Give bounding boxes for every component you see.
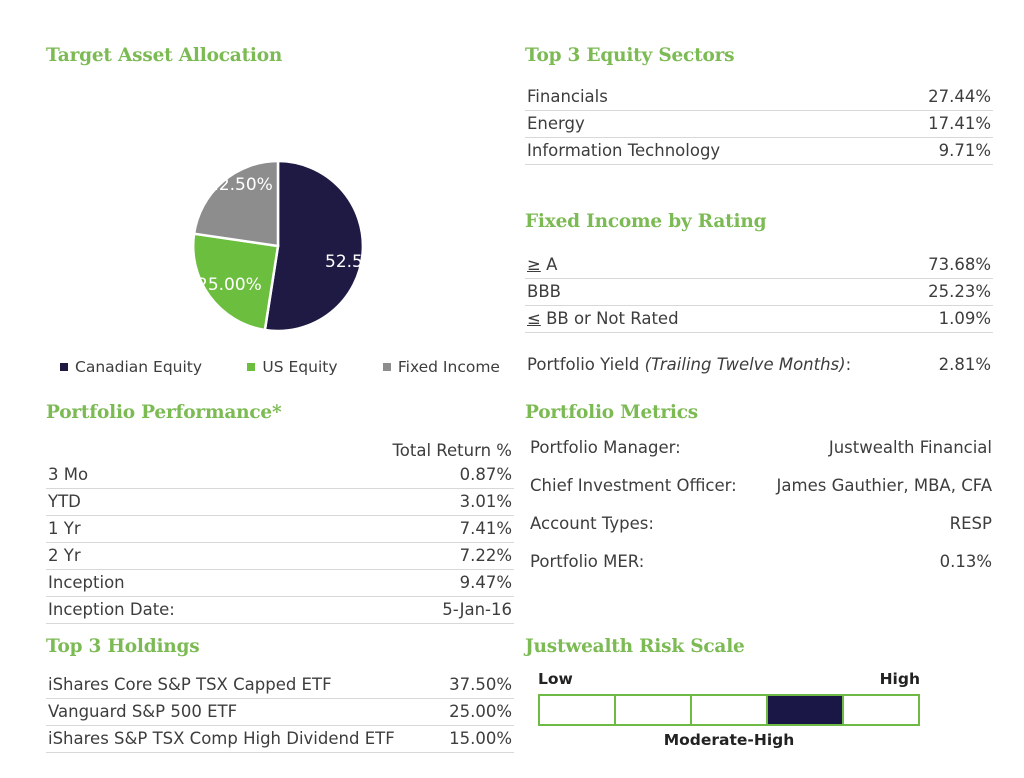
risk-scale-segment-5[interactable] [842, 694, 920, 726]
legend-item-fixed-income: Fixed Income [383, 358, 500, 376]
top-holdings-table: iShares Core S&P TSX Capped ETF 37.50% V… [46, 672, 514, 753]
rating-label-1: BBB [525, 279, 852, 306]
risk-scale-segment-2[interactable] [614, 694, 692, 726]
section-title-fixed-income: Fixed Income by Rating [525, 211, 766, 232]
metrics-label-2: Account Types: [530, 514, 654, 533]
sector-label-2: Information Technology [525, 138, 874, 165]
table-row: iShares S&P TSX Comp High Dividend ETF 1… [46, 726, 514, 753]
rating-symbol-0: ≥ [527, 255, 541, 274]
risk-scale-segment-1[interactable] [538, 694, 616, 726]
risk-scale-segment-4-active[interactable] [766, 694, 844, 726]
table-row-inception-date: Inception Date: 5-Jan-16 [46, 597, 514, 624]
risk-scale-caption: Moderate-High [538, 731, 920, 749]
pie-label-fixed-income: 22.50% [208, 175, 273, 195]
sector-value-1: 17.41% [874, 111, 993, 138]
metrics-row: Portfolio MER: 0.13% [530, 552, 992, 571]
metrics-row: Account Types: RESP [530, 514, 992, 533]
pie-legend: Canadian Equity US Equity Fixed Income [60, 358, 500, 376]
table-row: YTD 3.01% [46, 489, 514, 516]
sector-label-1: Energy [525, 111, 874, 138]
pie-svg [150, 112, 410, 384]
legend-item-canadian-equity: Canadian Equity [60, 358, 202, 376]
holding-label-0: iShares Core S&P TSX Capped ETF [46, 672, 439, 699]
rating-value-1: 25.23% [852, 279, 993, 306]
metrics-value-2: RESP [950, 514, 992, 533]
metrics-row: Chief Investment Officer: James Gauthier… [530, 476, 992, 495]
metrics-label-3: Portfolio MER: [530, 552, 644, 571]
risk-scale-low-label: Low [538, 670, 573, 688]
risk-scale-widget: Low High Moderate-High [538, 670, 920, 749]
rating-label-2: ≤ BB or Not Rated [525, 306, 852, 333]
rating-text-0: A [546, 255, 557, 274]
table-row: 2 Yr 7.22% [46, 543, 514, 570]
table-row: Financials 27.44% [525, 84, 993, 111]
table-row: ≤ BB or Not Rated 1.09% [525, 306, 993, 333]
section-title-portfolio-performance: Portfolio Performance* [46, 402, 281, 423]
table-row: 1 Yr 7.41% [46, 516, 514, 543]
rating-label-0: ≥ A [525, 252, 852, 279]
section-title-portfolio-metrics: Portfolio Metrics [525, 402, 698, 423]
pie-slice-fixed-income [194, 161, 278, 246]
portfolio-performance-table: Total Return % 3 Mo 0.87% YTD 3.01% 1 Yr… [46, 438, 514, 624]
rating-value-2: 1.09% [852, 306, 993, 333]
table-row: iShares Core S&P TSX Capped ETF 37.50% [46, 672, 514, 699]
performance-value-0: 0.87% [287, 462, 514, 489]
legend-item-us-equity: US Equity [247, 358, 337, 376]
fixed-income-rating-table: ≥ A 73.68% BBB 25.23% ≤ BB or Not Rated … [525, 252, 993, 333]
metrics-label-0: Portfolio Manager: [530, 438, 681, 457]
performance-label-1: YTD [46, 489, 287, 516]
metrics-row: Portfolio Manager: Justwealth Financial [530, 438, 992, 457]
holding-label-1: Vanguard S&P 500 ETF [46, 699, 439, 726]
pie-label-canadian-equity: 52.50% [325, 252, 390, 272]
performance-label-4: Inception [46, 570, 287, 597]
performance-value-3: 7.22% [287, 543, 514, 570]
asset-allocation-pie-chart: 52.50% 25.00% 22.50% [150, 112, 410, 384]
rating-value-0: 73.68% [852, 252, 993, 279]
rating-symbol-2: ≤ [527, 309, 541, 328]
legend-label-canadian-equity: Canadian Equity [75, 358, 202, 376]
risk-scale-bar [538, 694, 920, 726]
sector-label-0: Financials [525, 84, 874, 111]
rating-text-2: BB or Not Rated [546, 309, 678, 328]
performance-label-0: 3 Mo [46, 462, 287, 489]
table-row: Vanguard S&P 500 ETF 25.00% [46, 699, 514, 726]
metrics-value-0: Justwealth Financial [829, 438, 992, 457]
holding-label-2: iShares S&P TSX Comp High Dividend ETF [46, 726, 439, 753]
pie-slice-canadian-equity [265, 161, 363, 331]
legend-label-fixed-income: Fixed Income [398, 358, 500, 376]
table-row: Energy 17.41% [525, 111, 993, 138]
inception-date-value: 5-Jan-16 [287, 597, 514, 624]
table-row: ≥ A 73.68% [525, 252, 993, 279]
yield-label-text: Portfolio Yield [527, 355, 639, 374]
section-title-asset-allocation: Target Asset Allocation [46, 45, 282, 66]
table-header-row: Total Return % [46, 438, 514, 462]
portfolio-yield-row: Portfolio Yield (Trailing Twelve Months)… [525, 352, 993, 378]
table-row: Inception 9.47% [46, 570, 514, 597]
legend-swatch-icon-us-equity [247, 363, 255, 371]
equity-sectors-table: Financials 27.44% Energy 17.41% Informat… [525, 84, 993, 165]
portfolio-metrics-list: Portfolio Manager: Justwealth Financial … [530, 438, 992, 590]
performance-column-header: Total Return % [287, 438, 514, 462]
portfolio-yield-label: Portfolio Yield (Trailing Twelve Months)… [525, 352, 924, 378]
performance-label-3: 2 Yr [46, 543, 287, 570]
performance-blank-header [46, 438, 287, 462]
legend-swatch-icon-fixed-income [383, 363, 391, 371]
sector-value-0: 27.44% [874, 84, 993, 111]
performance-value-4: 9.47% [287, 570, 514, 597]
sector-value-2: 9.71% [874, 138, 993, 165]
section-title-risk-scale: Justwealth Risk Scale [525, 636, 745, 657]
risk-scale-endpoints: Low High [538, 670, 920, 688]
legend-label-us-equity: US Equity [262, 358, 337, 376]
factsheet-page: Target Asset Allocation 52.50% 25.00% 22… [0, 0, 1024, 778]
holding-value-2: 15.00% [439, 726, 514, 753]
table-row: Information Technology 9.71% [525, 138, 993, 165]
performance-value-2: 7.41% [287, 516, 514, 543]
pie-label-us-equity: 25.00% [197, 275, 262, 295]
metrics-value-3: 0.13% [940, 552, 992, 571]
table-row: 3 Mo 0.87% [46, 462, 514, 489]
section-title-equity-sectors: Top 3 Equity Sectors [525, 45, 734, 66]
metrics-label-1: Chief Investment Officer: [530, 476, 737, 495]
holding-value-1: 25.00% [439, 699, 514, 726]
metrics-value-1: James Gauthier, MBA, CFA [777, 476, 992, 495]
inception-date-label: Inception Date: [46, 597, 287, 624]
risk-scale-high-label: High [880, 670, 920, 688]
portfolio-yield-value: 2.81% [924, 352, 993, 378]
performance-label-2: 1 Yr [46, 516, 287, 543]
holding-value-0: 37.50% [439, 672, 514, 699]
yield-colon: : [846, 355, 852, 374]
legend-swatch-icon-canadian-equity [60, 363, 68, 371]
table-row: BBB 25.23% [525, 279, 993, 306]
section-title-top-holdings: Top 3 Holdings [46, 636, 199, 657]
performance-value-1: 3.01% [287, 489, 514, 516]
yield-note-text: (Trailing Twelve Months) [645, 355, 846, 374]
risk-scale-segment-3[interactable] [690, 694, 768, 726]
table-row: Portfolio Yield (Trailing Twelve Months)… [525, 352, 993, 378]
